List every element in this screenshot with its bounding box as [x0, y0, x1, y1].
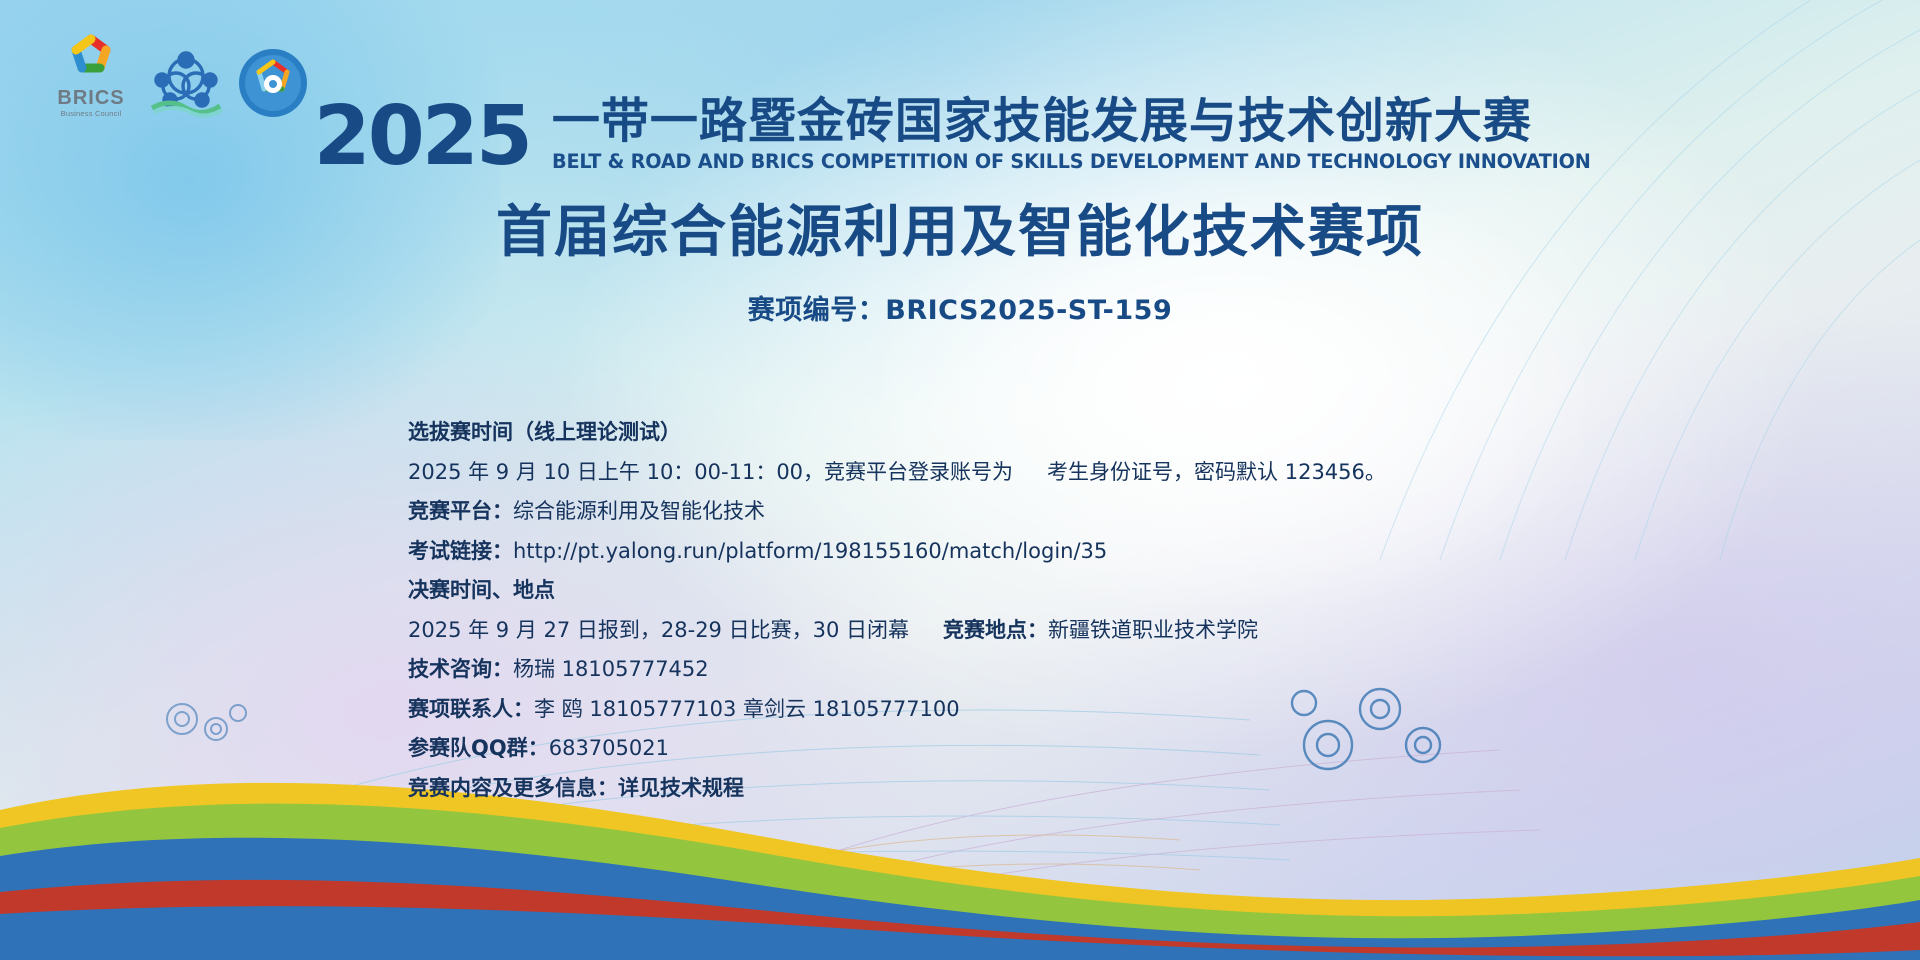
tech-support-row: 技术咨询：杨瑞 18105777452 [408, 659, 1608, 680]
poster-header: 2025 一带一路暨金砖国家技能发展与技术创新大赛 BELT & ROAD AN… [0, 96, 1920, 327]
final-schedule-row: 2025 年 9 月 27 日报到，28-29 日比赛，30 日闭幕竞赛地点：新… [408, 620, 1608, 641]
final-heading: 决赛时间、地点 [408, 580, 1608, 601]
event-code-value: BRICS2025-ST-159 [885, 295, 1172, 326]
event-code-label: 赛项编号： [748, 295, 886, 326]
platform-label: 竞赛平台： [408, 499, 513, 523]
qq-group-label: 参赛队QQ群： [408, 736, 549, 760]
contacts-value: 李 鸥 18105777103 章剑云 18105777100 [534, 697, 960, 721]
platform-row: 竞赛平台：综合能源利用及智能化技术 [408, 501, 1608, 522]
platform-value: 综合能源利用及智能化技术 [513, 499, 765, 523]
exam-link-row: 考试链接：http://pt.yalong.run/platform/19815… [408, 541, 1608, 562]
event-code-line: 赛项编号：BRICS2025-ST-159 [0, 288, 1920, 327]
event-subtitle-cn: 首届综合能源利用及智能化技术赛项 [0, 187, 1920, 268]
selection-account-text: 考生身份证号，密码默认 123456。 [1047, 460, 1386, 484]
details-block: 选拔赛时间（线上理论测试） 2025 年 9 月 10 日上午 10：00-11… [408, 422, 1608, 817]
tech-support-label: 技术咨询： [408, 657, 513, 681]
contacts-label: 赛项联系人： [408, 697, 534, 721]
selection-time-row: 2025 年 9 月 10 日上午 10：00-11：00，竞赛平台登录账号为考… [408, 462, 1608, 483]
more-info-value: 详见技术规程 [618, 776, 744, 800]
year-badge: 2025 [314, 101, 530, 173]
title-row-primary: 2025 一带一路暨金砖国家技能发展与技术创新大赛 BELT & ROAD AN… [0, 96, 1920, 171]
brics-star-icon [60, 30, 122, 86]
title-stack: 一带一路暨金砖国家技能发展与技术创新大赛 BELT & ROAD AND BRI… [552, 96, 1606, 171]
more-info-row: 竞赛内容及更多信息：详见技术规程 [408, 778, 1608, 799]
qq-group-row: 参赛队QQ群：683705021 [408, 738, 1608, 759]
selection-heading: 选拔赛时间（线上理论测试） [408, 422, 1608, 443]
poster-background: BRICS Business Council [0, 0, 1920, 960]
qq-group-value: 683705021 [549, 736, 669, 760]
venue-value: 新疆铁道职业技术学院 [1048, 618, 1258, 642]
more-info-label: 竞赛内容及更多信息： [408, 776, 618, 800]
tech-support-value: 杨瑞 18105777452 [513, 657, 709, 681]
competition-title-cn: 一带一路暨金砖国家技能发展与技术创新大赛 [552, 96, 1606, 147]
exam-link-value[interactable]: http://pt.yalong.run/platform/198155160/… [513, 539, 1107, 563]
selection-time-text: 2025 年 9 月 10 日上午 10：00-11：00，竞赛平台登录账号为 [408, 460, 1013, 484]
contacts-row: 赛项联系人：李 鸥 18105777103 章剑云 18105777100 [408, 699, 1608, 720]
venue-label: 竞赛地点： [943, 618, 1048, 642]
competition-title-en: BELT & ROAD AND BRICS COMPETITION OF SKI… [552, 152, 1591, 172]
final-schedule-text: 2025 年 9 月 27 日报到，28-29 日比赛，30 日闭幕 [408, 618, 909, 642]
exam-link-label: 考试链接： [408, 539, 513, 563]
gear-cluster-left-icon [150, 685, 260, 755]
